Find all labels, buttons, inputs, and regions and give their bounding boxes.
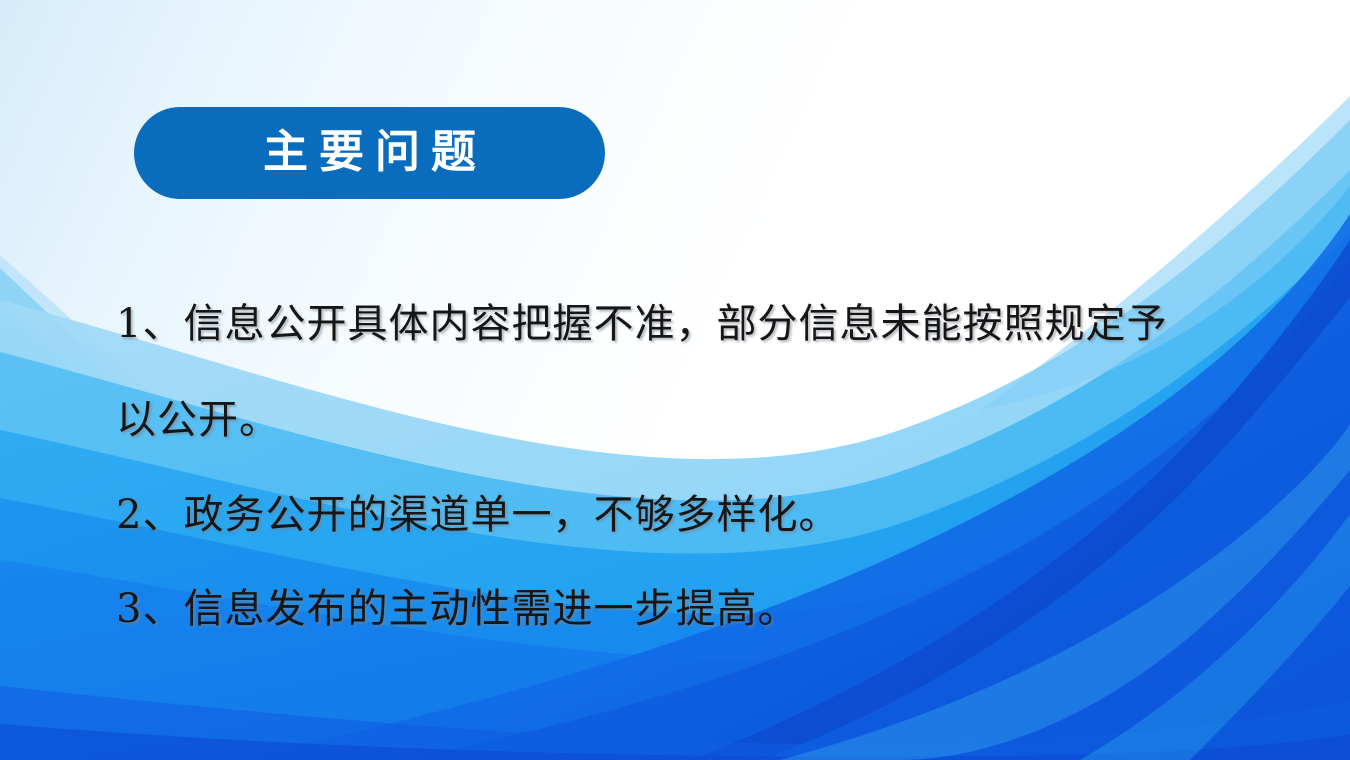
body-line-4: 3、信息发布的主动性需进一步提高。 [116, 562, 1256, 656]
body-line-2: 以公开。 [116, 372, 1256, 468]
body-line-3: 2、政务公开的渠道单一，不够多样化。 [116, 468, 1256, 562]
slide-canvas: 主要问题 1、信息公开具体内容把握不准，部分信息未能按照规定予 以公开。 2、政… [0, 0, 1350, 760]
body-line-1: 1、信息公开具体内容把握不准，部分信息未能按照规定予 [116, 276, 1256, 372]
body-content: 1、信息公开具体内容把握不准，部分信息未能按照规定予 以公开。 2、政务公开的渠… [116, 276, 1256, 656]
page-title: 主要问题 [252, 129, 487, 174]
section-title-pill: 主要问题 [134, 107, 605, 199]
